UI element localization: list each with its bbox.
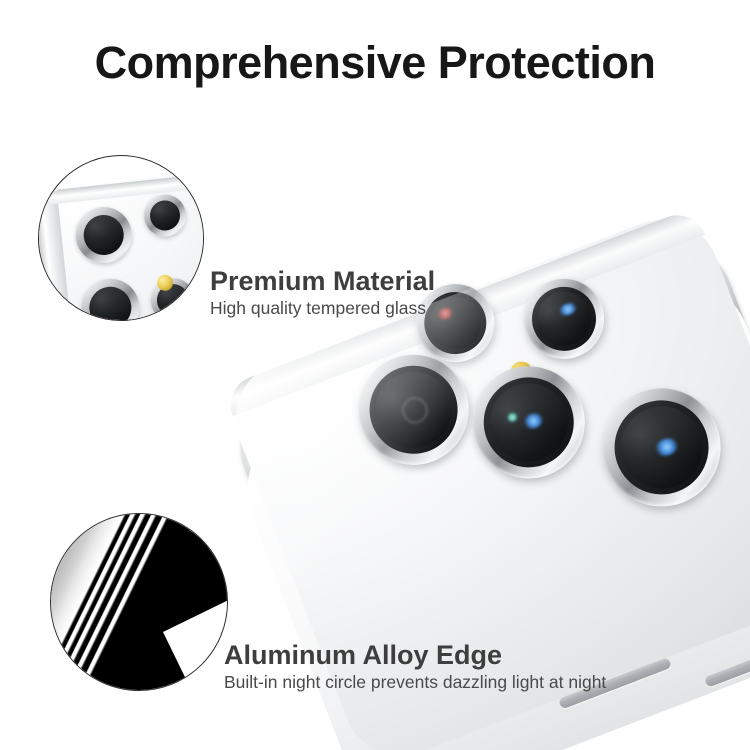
feature-subtitle-aluminum-alloy-edge: Built-in night circle prevents dazzling …: [224, 671, 606, 693]
feature-subtitle-premium-material: High quality tempered glass: [210, 297, 426, 319]
product-feature-banner: Comprehensive Protection: [0, 0, 750, 750]
lens-flare: [436, 306, 455, 322]
lens-flare: [522, 410, 546, 431]
lens-glass: [529, 284, 599, 354]
feature-title-aluminum-alloy-edge: Aluminum Alloy Edge: [224, 640, 502, 671]
camera-lens-macro-icon: [38, 166, 204, 321]
macro-lens-glass: [82, 213, 126, 257]
lens-flare-secondary: [506, 411, 519, 423]
callout-circle-premium-material: [38, 155, 204, 321]
page-title: Comprehensive Protection: [0, 36, 750, 90]
macro-lens-glass: [149, 199, 182, 232]
lens-glass: [478, 372, 579, 473]
lens-glass: [422, 289, 489, 356]
lens-glass: [364, 361, 462, 459]
macro-lens-glass: [87, 285, 133, 321]
feature-title-premium-material: Premium Material: [210, 266, 435, 297]
lens-flare: [557, 301, 580, 318]
callout-circle-aluminum-alloy-edge: [50, 513, 228, 691]
lens-glass: [609, 394, 715, 500]
lens-aperture-ring: [398, 394, 432, 428]
lens-flare: [653, 435, 681, 459]
